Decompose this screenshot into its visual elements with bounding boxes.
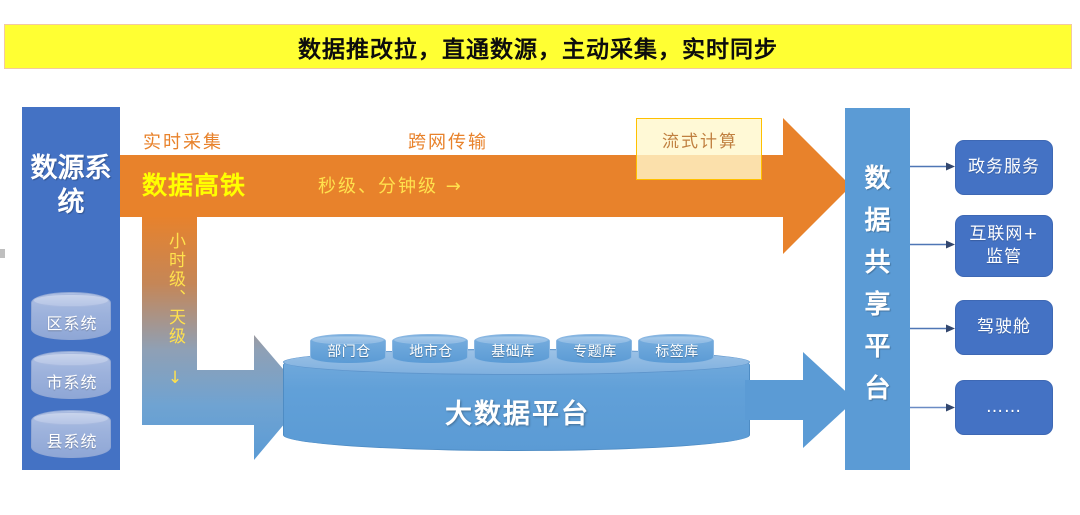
- data-store-cylinder-icon: 专题库: [556, 334, 632, 364]
- source-systems-panel: 数源系统 区系统 市系统 县系统: [22, 107, 120, 470]
- consumer-label-line2: 监管: [986, 246, 1022, 269]
- consumer-box-others[interactable]: ……: [955, 380, 1053, 435]
- connector-arrow-icon: [910, 162, 955, 171]
- cross-network-label: 跨网传输: [408, 128, 488, 154]
- consumer-label-line1: 互联网+: [969, 223, 1038, 246]
- consumer-label: 驾驶舱: [977, 316, 1031, 339]
- consumer-box-government-service[interactable]: 政务服务: [955, 140, 1053, 195]
- source-system-label: 市系统: [32, 369, 112, 393]
- source-cylinder-list: 区系统 市系统 县系统: [31, 292, 111, 469]
- data-store-cylinder-icon: 标签库: [638, 334, 714, 364]
- express-latency-label: 秒级、分钟级 →: [318, 172, 463, 198]
- stream-computing-label: 流式计算: [637, 127, 763, 152]
- platform-to-share-arrow-icon: [745, 352, 855, 448]
- consumer-box-internet-plus-supervision[interactable]: 互联网+ 监管: [955, 215, 1053, 277]
- data-share-platform: 数据共享平台: [845, 108, 910, 470]
- data-store-label: 专题库: [557, 341, 633, 361]
- express-lane-arrowhead-icon: [783, 118, 851, 254]
- data-store-list: 部门仓 地市仓 基础库 专题库 标签库: [310, 334, 740, 364]
- database-cylinder-icon: 区系统: [31, 292, 111, 340]
- database-cylinder-icon: 县系统: [31, 410, 111, 458]
- connector-arrow-icon: [910, 403, 955, 412]
- consumer-label: 政务服务: [968, 156, 1040, 179]
- data-store-cylinder-icon: 基础库: [474, 334, 550, 364]
- stream-computing-box: 流式计算: [636, 118, 762, 180]
- data-share-platform-title: 数据共享平台: [845, 158, 910, 410]
- source-system-label: 区系统: [32, 310, 112, 334]
- data-store-cylinder-icon: 地市仓: [392, 334, 468, 364]
- data-store-label: 基础库: [475, 341, 551, 361]
- data-store-label: 部门仓: [311, 341, 387, 361]
- title-banner: 数据推改拉，直通数源，主动采集，实时同步: [4, 24, 1072, 69]
- database-cylinder-icon: 市系统: [31, 351, 111, 399]
- data-express-title: 数据高铁: [142, 166, 246, 202]
- edge-artifact: [0, 249, 5, 258]
- consumer-box-cockpit[interactable]: 驾驶舱: [955, 300, 1053, 355]
- realtime-collect-label: 实时采集: [143, 128, 223, 154]
- data-store-cylinder-icon: 部门仓: [310, 334, 386, 364]
- big-data-platform-title: 大数据平台: [284, 392, 751, 431]
- connector-arrow-icon: [910, 324, 955, 333]
- connector-arrow-icon: [910, 240, 955, 249]
- source-panel-title: 数源系统: [22, 152, 120, 220]
- diagram-canvas: 数据推改拉，直通数源，主动采集，实时同步 数源系统 区系统 市系统 县系统: [0, 0, 1080, 515]
- data-store-label: 标签库: [639, 341, 715, 361]
- consumer-label: ……: [986, 396, 1022, 419]
- page-title: 数据推改拉，直通数源，主动采集，实时同步: [298, 30, 778, 64]
- batch-latency-label: 小时级、天级 ↓: [162, 232, 186, 390]
- data-store-label: 地市仓: [393, 341, 469, 361]
- source-system-label: 县系统: [32, 428, 112, 452]
- big-data-platform-cylinder: 大数据平台: [283, 349, 750, 451]
